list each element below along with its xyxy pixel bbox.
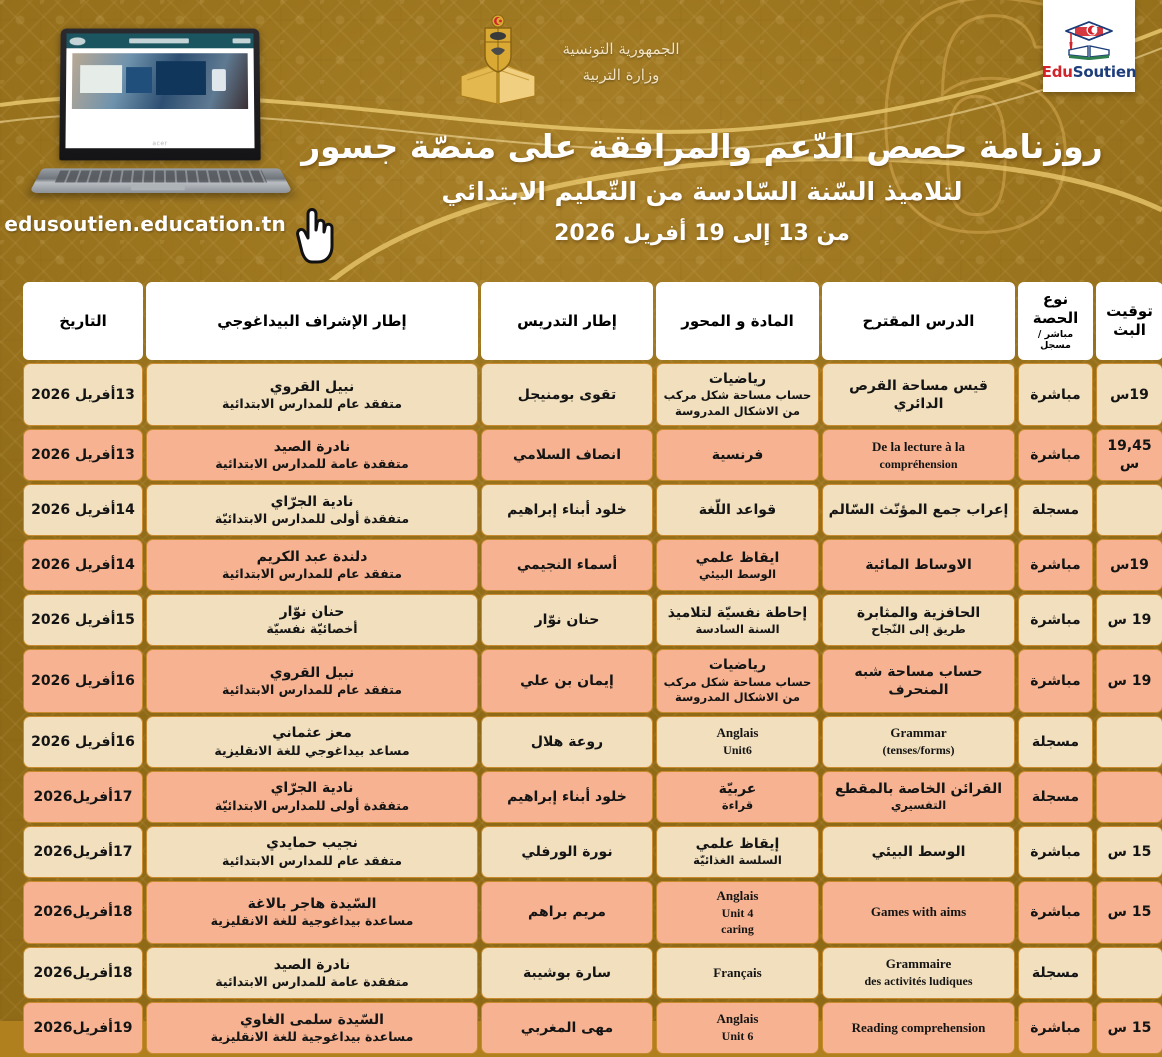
cell-broadcast-time-0: 19س — [1096, 363, 1162, 426]
cell-subject-6: AnglaisUnit6 — [656, 716, 819, 768]
cell-lesson-2: إعراب جمع المؤنّث السّالم — [822, 484, 1015, 536]
cell-supervisor-11-main: السّيدة سلمى الغاوي — [151, 1011, 473, 1029]
cell-supervisor-7-sub: متفقدة أولى للمدارس الابتدائيّة — [151, 798, 473, 814]
table-row: مسجلةإعراب جمع المؤنّث السّالمقواعد اللّ… — [23, 484, 1162, 536]
cell-lesson-4: الحافزية والمثابرةطريق إلى النّجاح — [822, 594, 1015, 646]
cell-supervisor-5-main: نبيل القروي — [151, 664, 473, 682]
cell-broadcast-time-8-main: 15 س — [1101, 843, 1158, 861]
cell-session-type-8: مباشرة — [1018, 826, 1093, 878]
cell-broadcast-time-2 — [1096, 484, 1162, 536]
cell-subject-6-main: Anglais — [661, 725, 814, 742]
laptop-keys — [55, 171, 267, 183]
cell-broadcast-time-10 — [1096, 947, 1162, 999]
cell-teacher-0-main: تقوى بومنيجل — [486, 386, 648, 404]
cell-teacher-0: تقوى بومنيجل — [481, 363, 653, 426]
cell-teacher-9-main: مريم براهم — [486, 903, 648, 921]
cell-subject-11-sub: Unit 6 — [661, 1028, 814, 1044]
cell-date-3: 14أفريل 2026 — [23, 539, 143, 591]
cell-supervisor-3: دلندة عبد الكريممتفقد عام للمدارس الابتد… — [146, 539, 478, 591]
cell-date-2-main: 14أفريل 2026 — [28, 501, 138, 519]
cell-session-type-4: مباشرة — [1018, 594, 1093, 646]
cell-subject-0-sub: حساب مساحة شكل مركب — [661, 388, 814, 404]
cell-subject-4-main: إحاطة نفسيّة لتلاميذ — [661, 604, 814, 622]
cell-subject-4-sub: السنة السادسة — [661, 622, 814, 638]
ministry-line-2: وزارة التربية — [547, 62, 695, 88]
cell-subject-10: Français — [656, 947, 819, 999]
cell-lesson-4-sub: طريق إلى النّجاح — [827, 622, 1010, 638]
cell-lesson-11: Reading comprehension — [822, 1002, 1015, 1054]
cell-supervisor-7: نادية الجرّايمتفقدة أولى للمدارس الابتدا… — [146, 771, 478, 823]
table-row: 19,45 سمباشرةDe la lecture à lacompréhen… — [23, 429, 1162, 481]
cell-lesson-2-main: إعراب جمع المؤنّث السّالم — [827, 501, 1010, 519]
cell-subject-5-sub: من الاشكال المدروسة — [661, 690, 814, 706]
cell-broadcast-time-1: 19,45 س — [1096, 429, 1162, 481]
cell-teacher-5-main: إيمان بن علي — [486, 672, 648, 690]
website-footer-text — [66, 125, 255, 130]
cell-teacher-7-main: خلود أبناء إبراهيم — [486, 788, 648, 806]
cell-session-type-7-main: مسجلة — [1023, 788, 1088, 806]
cell-broadcast-time-4-main: 19 س — [1101, 611, 1158, 629]
cell-date-0-main: 13أفريل 2026 — [28, 386, 138, 404]
cell-date-8-main: 17أفريل2026 — [28, 843, 138, 861]
cell-date-8: 17أفريل2026 — [23, 826, 143, 878]
edusoutien-wordmark: EduSoutien — [1042, 63, 1137, 81]
title-block: روزنامة حصص الدّعم والمرافقة على منصّة ج… — [272, 126, 1132, 246]
cell-date-9: 18أفريل2026 — [23, 881, 143, 944]
cell-date-7-main: 17أفريل2026 — [28, 788, 138, 806]
cell-supervisor-10: نادرة الصيدمتفقدة عامة للمدارس الابتدائي… — [146, 947, 478, 999]
cell-subject-8-main: إيقاظ علمي — [661, 835, 814, 853]
cell-lesson-6: Grammar(tenses/forms) — [822, 716, 1015, 768]
table-column-header-6: التاريخ — [23, 282, 143, 360]
laptop-screen-content: acer — [65, 33, 254, 148]
cell-teacher-4-main: حنان نوّار — [486, 611, 648, 629]
cell-session-type-2-main: مسجلة — [1023, 501, 1088, 519]
cell-date-2: 14أفريل 2026 — [23, 484, 143, 536]
cell-supervisor-8: نجيب حمايديمتفقد عام للمدارس الابتدائية — [146, 826, 478, 878]
cell-date-10-main: 18أفريل2026 — [28, 964, 138, 982]
page-subtitle: لتلاميذ السّنة السّادسة من التّعليم الاب… — [272, 176, 1132, 209]
cell-lesson-8-main: الوسط البيئي — [827, 843, 1010, 861]
table-header-row: توقيت البثنوع الحصةمباشر / مسجلالدرس الم… — [23, 282, 1162, 360]
cell-teacher-4: حنان نوّار — [481, 594, 653, 646]
cell-broadcast-time-3: 19س — [1096, 539, 1162, 591]
cell-broadcast-time-4: 19 س — [1096, 594, 1162, 646]
cell-lesson-7-sub: التفسيري — [827, 798, 1010, 814]
cell-subject-9-main: Anglais — [661, 888, 814, 905]
cell-teacher-7: خلود أبناء إبراهيم — [481, 771, 653, 823]
cell-supervisor-6-main: معز عثماني — [151, 724, 473, 742]
cell-session-type-8-main: مباشرة — [1023, 843, 1088, 861]
cell-date-6: 16أفريل 2026 — [23, 716, 143, 768]
cell-subject-9: AnglaisUnit 4caring — [656, 881, 819, 944]
cell-broadcast-time-6 — [1096, 716, 1162, 768]
cell-subject-7-main: عربيّة — [661, 780, 814, 798]
cell-supervisor-3-sub: متفقد عام للمدارس الابتدائية — [151, 566, 473, 582]
cell-lesson-5-main: حساب مساحة شبه المنحرف — [827, 663, 1010, 699]
cell-broadcast-time-9-main: 15 س — [1101, 903, 1158, 921]
cell-broadcast-time-1-main: 19,45 س — [1101, 437, 1158, 473]
cell-date-3-main: 14أفريل 2026 — [28, 556, 138, 574]
cell-supervisor-9-sub: مساعدة بيداغوجية للغة الانقليزية — [151, 913, 473, 929]
date-range-label: من 13 إلى 19 أفريل 2026 — [272, 221, 1132, 246]
cell-session-type-1: مباشرة — [1018, 429, 1093, 481]
cell-subject-1-main: فرنسية — [661, 446, 814, 464]
cell-supervisor-4-sub: أخصائيّة نفسيّة — [151, 621, 473, 637]
cell-supervisor-1-main: نادرة الصيد — [151, 438, 473, 456]
cell-date-9-main: 18أفريل2026 — [28, 903, 138, 921]
cell-supervisor-2-sub: متفقدة أولى للمدارس الابتدائيّة — [151, 511, 473, 527]
cell-teacher-6-main: روعة هلال — [486, 733, 648, 751]
cell-date-7: 17أفريل2026 — [23, 771, 143, 823]
cell-supervisor-2: نادية الجرّايمتفقدة أولى للمدارس الابتدا… — [146, 484, 478, 536]
column-header-label: نوع الحصة — [1033, 290, 1078, 327]
tunisia-book-emblem-icon — [455, 14, 541, 110]
cell-broadcast-time-5-main: 19 س — [1101, 672, 1158, 690]
navbar-avatar-chip — [69, 37, 85, 45]
cell-session-type-5: مباشرة — [1018, 649, 1093, 712]
cell-supervisor-11: السّيدة سلمى الغاويمساعدة بيداغوجية للغة… — [146, 1002, 478, 1054]
table-row: مسجلةGrammar(tenses/forms)AnglaisUnit6رو… — [23, 716, 1162, 768]
cell-broadcast-time-11: 15 س — [1096, 1002, 1162, 1054]
cell-lesson-3: الاوساط المائية — [822, 539, 1015, 591]
table-column-header-2: الدرس المقترح — [822, 282, 1015, 360]
table-body: 19سمباشرةقيس مساحة القرص الدائريرياضياتح… — [23, 363, 1162, 1054]
cell-subject-4: إحاطة نفسيّة لتلاميذالسنة السادسة — [656, 594, 819, 646]
cell-date-5-main: 16أفريل 2026 — [28, 672, 138, 690]
cell-date-1-main: 13أفريل 2026 — [28, 446, 138, 464]
cell-session-type-9-main: مباشرة — [1023, 903, 1088, 921]
cell-date-4: 15أفريل 2026 — [23, 594, 143, 646]
hero-phone — [212, 69, 226, 91]
cell-supervisor-11-sub: مساعدة بيداغوجية للغة الانقليزية — [151, 1029, 473, 1045]
cell-broadcast-time-7 — [1096, 771, 1162, 823]
column-header-sublabel: مباشر / مسجل — [1021, 329, 1090, 353]
cell-teacher-1-main: انصاف السلامي — [486, 446, 648, 464]
cell-supervisor-0-main: نبيل القروي — [151, 378, 473, 396]
logo-edu-text: Edu — [1042, 63, 1073, 81]
laptop-touchpad — [131, 184, 185, 191]
column-header-label: إطار التدريس — [517, 312, 617, 330]
cell-lesson-9-main: Games with aims — [827, 904, 1010, 921]
website-hero-image — [72, 53, 248, 109]
cell-subject-3-sub: الوسط البيئي — [661, 567, 814, 583]
schedule-table: توقيت البثنوع الحصةمباشر / مسجلالدرس الم… — [20, 279, 1162, 1057]
table-row: مسجلةGrammairedes activités ludiquesFran… — [23, 947, 1162, 999]
hero-card-2 — [126, 67, 152, 93]
cell-subject-10-main: Français — [661, 965, 814, 982]
cell-date-6-main: 16أفريل 2026 — [28, 733, 138, 751]
column-header-label: إطار الإشراف البيداغوجي — [217, 312, 406, 330]
cell-supervisor-3-main: دلندة عبد الكريم — [151, 548, 473, 566]
cell-teacher-9: مريم براهم — [481, 881, 653, 944]
cell-session-type-2: مسجلة — [1018, 484, 1093, 536]
cell-supervisor-0: نبيل القرويمتفقد عام للمدارس الابتدائية — [146, 363, 478, 426]
cell-subject-6-sub: Unit6 — [661, 742, 814, 758]
laptop-keyboard-base — [29, 168, 293, 193]
website-navbar — [66, 33, 253, 48]
cell-teacher-10-main: سارة بوشيبة — [486, 964, 648, 982]
cell-subject-1: فرنسية — [656, 429, 819, 481]
cell-subject-5-sub: حساب مساحة شكل مركب — [661, 675, 814, 691]
cell-lesson-6-sub: (tenses/forms) — [827, 742, 1010, 758]
navbar-title-chip — [129, 38, 189, 43]
cell-supervisor-9: السّيدة هاجر بالاغةمساعدة بيداغوجية للغة… — [146, 881, 478, 944]
cell-broadcast-time-8: 15 س — [1096, 826, 1162, 878]
cell-subject-11: AnglaisUnit 6 — [656, 1002, 819, 1054]
cell-lesson-11-main: Reading comprehension — [827, 1020, 1010, 1037]
cell-teacher-6: روعة هلال — [481, 716, 653, 768]
cell-session-type-7: مسجلة — [1018, 771, 1093, 823]
cell-lesson-5: حساب مساحة شبه المنحرف — [822, 649, 1015, 712]
cell-supervisor-10-main: نادرة الصيد — [151, 956, 473, 974]
cell-session-type-4-main: مباشرة — [1023, 611, 1088, 629]
cell-subject-8: إيقاظ علميالسلسة الغذائيّة — [656, 826, 819, 878]
cell-subject-7-sub: قراءة — [661, 798, 814, 814]
cell-lesson-1-sub: compréhension — [827, 456, 1010, 472]
edusoutien-logo: EduSoutien — [1043, 0, 1135, 92]
column-header-label: التاريخ — [59, 312, 107, 330]
cell-supervisor-10-sub: متفقدة عامة للمدارس الابتدائية — [151, 974, 473, 990]
hero-card-1 — [80, 65, 122, 93]
cell-supervisor-6: معز عثمانيمساعد بيداغوجي للغة الانقليزية — [146, 716, 478, 768]
cell-session-type-6: مسجلة — [1018, 716, 1093, 768]
cell-subject-3-main: ايقاظ علمي — [661, 549, 814, 567]
cell-date-11-main: 19أفريل2026 — [28, 1019, 138, 1037]
cell-date-11: 19أفريل2026 — [23, 1002, 143, 1054]
cell-supervisor-7-main: نادية الجرّاي — [151, 779, 473, 797]
cell-lesson-8: الوسط البيئي — [822, 826, 1015, 878]
cell-session-type-11-main: مباشرة — [1023, 1019, 1088, 1037]
table-row: 15 سمباشرةGames with aimsAnglaisUnit 4ca… — [23, 881, 1162, 944]
cell-session-type-5-main: مباشرة — [1023, 672, 1088, 690]
website-url-label: edusoutien.education.tn — [36, 212, 286, 236]
graduation-cap-book-icon — [1062, 17, 1116, 61]
table-column-header-4: إطار التدريس — [481, 282, 653, 360]
cell-subject-0: رياضياتحساب مساحة شكل مركبمن الاشكال الم… — [656, 363, 819, 426]
column-header-label: المادة و المحور — [681, 312, 793, 330]
cell-session-type-3-main: مباشرة — [1023, 556, 1088, 574]
cell-lesson-3-main: الاوساط المائية — [827, 556, 1010, 574]
cell-subject-5: رياضياتحساب مساحة شكل مركبمن الاشكال الم… — [656, 649, 819, 712]
cell-supervisor-2-main: نادية الجرّاي — [151, 493, 473, 511]
navbar-menu-chip — [233, 38, 251, 43]
cell-supervisor-8-main: نجيب حمايدي — [151, 834, 473, 852]
cell-date-10: 18أفريل2026 — [23, 947, 143, 999]
cell-session-type-3: مباشرة — [1018, 539, 1093, 591]
cell-session-type-0: مباشرة — [1018, 363, 1093, 426]
cell-subject-7: عربيّةقراءة — [656, 771, 819, 823]
cell-session-type-1-main: مباشرة — [1023, 446, 1088, 464]
cell-lesson-6-main: Grammar — [827, 725, 1010, 742]
cell-supervisor-5-sub: متفقد عام للمدارس الابتدائية — [151, 682, 473, 698]
cell-teacher-2: خلود أبناء إبراهيم — [481, 484, 653, 536]
cell-supervisor-1-sub: متفقدة عامة للمدارس الابتدائية — [151, 456, 473, 472]
cell-teacher-2-main: خلود أبناء إبراهيم — [486, 501, 648, 519]
column-header-label: الدرس المقترح — [863, 312, 975, 330]
cell-date-5: 16أفريل 2026 — [23, 649, 143, 712]
cell-supervisor-6-sub: مساعد بيداغوجي للغة الانقليزية — [151, 743, 473, 759]
cell-subject-3: ايقاظ علميالوسط البيئي — [656, 539, 819, 591]
cell-supervisor-4-main: حنان نوّار — [151, 603, 473, 621]
cell-subject-8-sub: السلسة الغذائيّة — [661, 853, 814, 869]
cell-teacher-3: أسماء النجيمي — [481, 539, 653, 591]
column-header-label: توقيت البث — [1106, 302, 1153, 339]
ministry-text: الجمهورية التونسية وزارة التربية — [547, 36, 695, 89]
cell-lesson-10-main: Grammaire — [827, 956, 1010, 973]
table-row: 19سمباشرةقيس مساحة القرص الدائريرياضياتح… — [23, 363, 1162, 426]
cell-date-1: 13أفريل 2026 — [23, 429, 143, 481]
cell-teacher-11: مهى المغربي — [481, 1002, 653, 1054]
cell-teacher-8-main: نورة الورفلي — [486, 843, 648, 861]
cell-session-type-10: مسجلة — [1018, 947, 1093, 999]
cell-supervisor-0-sub: متفقد عام للمدارس الابتدائية — [151, 396, 473, 412]
cell-supervisor-8-sub: متفقد عام للمدارس الابتدائية — [151, 853, 473, 869]
cell-subject-0-sub: من الاشكال المدروسة — [661, 404, 814, 420]
cell-supervisor-1: نادرة الصيدمتفقدة عامة للمدارس الابتدائي… — [146, 429, 478, 481]
cell-lesson-0-main: قيس مساحة القرص الدائري — [827, 377, 1010, 413]
cell-subject-2-main: قواعد اللّغة — [661, 501, 814, 519]
hero-card-3 — [156, 61, 206, 95]
cell-broadcast-time-9: 15 س — [1096, 881, 1162, 944]
table-row: 15 سمباشرةReading comprehensionAnglaisUn… — [23, 1002, 1162, 1054]
table-row: 19 سمباشرةالحافزية والمثابرةطريق إلى الن… — [23, 594, 1162, 646]
table-row: 19سمباشرةالاوساط المائيةايقاظ علميالوسط … — [23, 539, 1162, 591]
ministry-emblem-block: الجمهورية التونسية وزارة التربية — [455, 12, 695, 112]
cell-supervisor-4: حنان نوّارأخصائيّة نفسيّة — [146, 594, 478, 646]
cell-subject-9-sub: Unit 4 — [661, 905, 814, 921]
cell-session-type-11: مباشرة — [1018, 1002, 1093, 1054]
table-column-header-5: إطار الإشراف البيداغوجي — [146, 282, 478, 360]
cell-subject-0-main: رياضيات — [661, 370, 814, 388]
page-title: روزنامة حصص الدّعم والمرافقة على منصّة ج… — [272, 126, 1132, 168]
table-row: مسجلةالقرائن الخاصة بالمقطعالتفسيريعربيّ… — [23, 771, 1162, 823]
cell-lesson-10: Grammairedes activités ludiques — [822, 947, 1015, 999]
cell-subject-11-main: Anglais — [661, 1011, 814, 1028]
cell-broadcast-time-5: 19 س — [1096, 649, 1162, 712]
cell-broadcast-time-3-main: 19س — [1101, 556, 1158, 574]
table-column-header-1: نوع الحصةمباشر / مسجل — [1018, 282, 1093, 360]
cell-broadcast-time-11-main: 15 س — [1101, 1019, 1158, 1037]
cell-teacher-8: نورة الورفلي — [481, 826, 653, 878]
ministry-line-1: الجمهورية التونسية — [547, 36, 695, 62]
cell-supervisor-5: نبيل القرويمتفقد عام للمدارس الابتدائية — [146, 649, 478, 712]
cell-lesson-1-main: De la lecture à la — [827, 439, 1010, 456]
cell-session-type-9: مباشرة — [1018, 881, 1093, 944]
table-column-header-0: توقيت البث — [1096, 282, 1162, 360]
logo-soutien-text: Soutien — [1073, 63, 1137, 81]
cell-teacher-10: سارة بوشيبة — [481, 947, 653, 999]
cell-session-type-0-main: مباشرة — [1023, 386, 1088, 404]
cell-teacher-3-main: أسماء النجيمي — [486, 556, 648, 574]
cell-subject-9-sub: caring — [661, 921, 814, 937]
cell-date-0: 13أفريل 2026 — [23, 363, 143, 426]
cell-supervisor-9-main: السّيدة هاجر بالاغة — [151, 895, 473, 913]
table-row: 19 سمباشرةحساب مساحة شبه المنحرفرياضياتح… — [23, 649, 1162, 712]
cell-lesson-0: قيس مساحة القرص الدائري — [822, 363, 1015, 426]
laptop-brand-logo: acer — [152, 140, 167, 147]
cell-teacher-1: انصاف السلامي — [481, 429, 653, 481]
cell-broadcast-time-0-main: 19س — [1101, 386, 1158, 404]
cell-lesson-1: De la lecture à lacompréhension — [822, 429, 1015, 481]
cell-teacher-11-main: مهى المغربي — [486, 1019, 648, 1037]
table-row: 15 سمباشرةالوسط البيئيإيقاظ علميالسلسة ا… — [23, 826, 1162, 878]
cell-session-type-10-main: مسجلة — [1023, 964, 1088, 982]
laptop-screen-bezel: acer — [59, 29, 260, 161]
cell-teacher-5: إيمان بن علي — [481, 649, 653, 712]
table-column-header-3: المادة و المحور — [656, 282, 819, 360]
cell-session-type-6-main: مسجلة — [1023, 733, 1088, 751]
cell-lesson-10-sub: des activités ludiques — [827, 973, 1010, 989]
cell-lesson-9: Games with aims — [822, 881, 1015, 944]
cell-subject-5-main: رياضيات — [661, 656, 814, 674]
cell-subject-2: قواعد اللّغة — [656, 484, 819, 536]
cell-date-4-main: 15أفريل 2026 — [28, 611, 138, 629]
cell-lesson-7: القرائن الخاصة بالمقطعالتفسيري — [822, 771, 1015, 823]
cell-lesson-4-main: الحافزية والمثابرة — [827, 604, 1010, 622]
cell-lesson-7-main: القرائن الخاصة بالمقطع — [827, 780, 1010, 798]
